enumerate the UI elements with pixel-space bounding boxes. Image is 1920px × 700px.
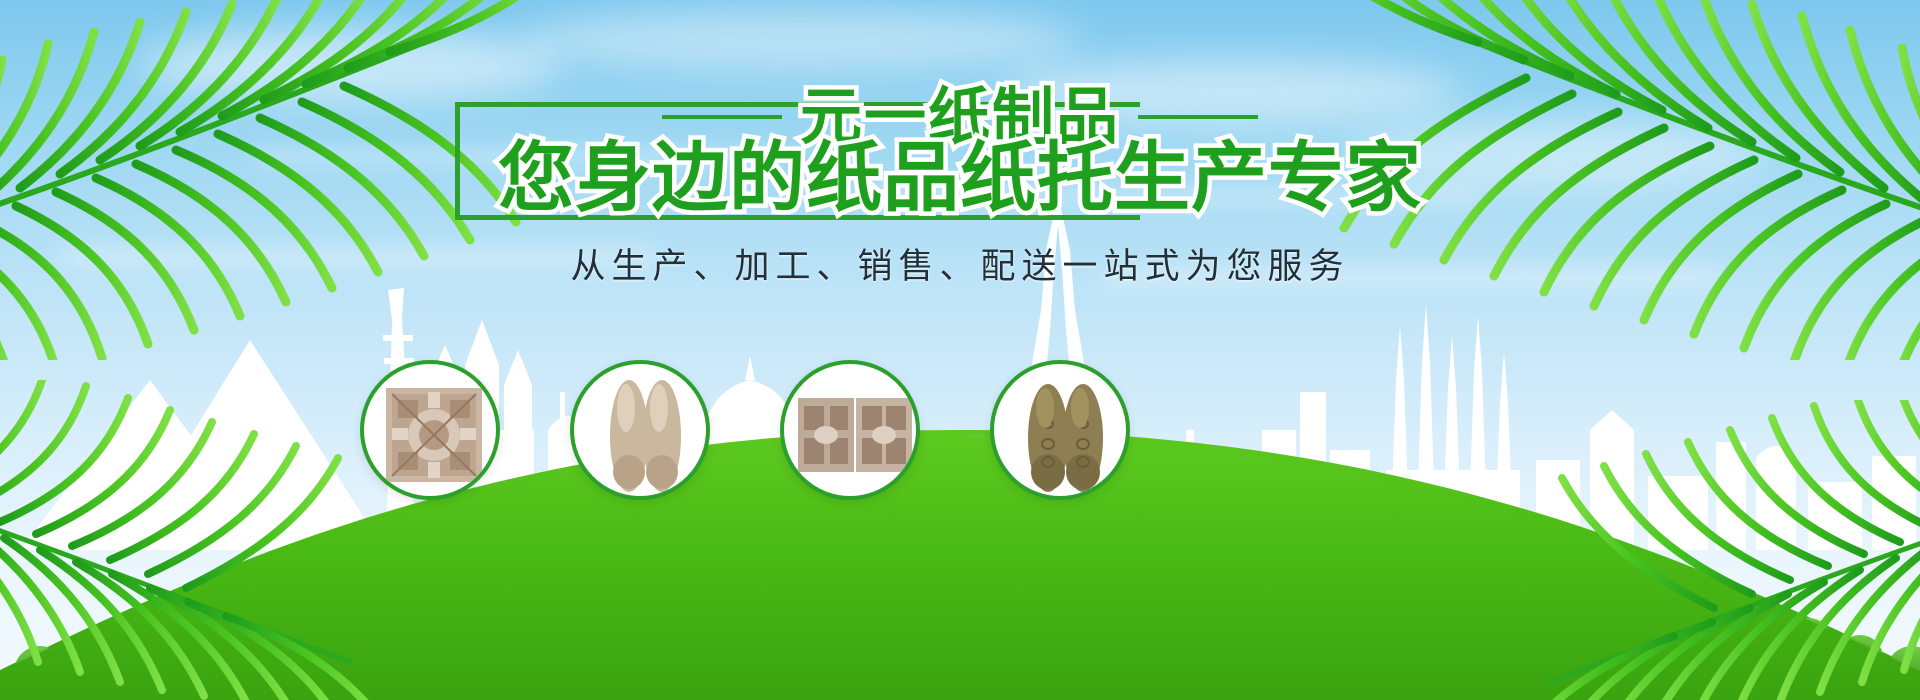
product-circle-paper-pulp-shoe-tree-dark[interactable]: [990, 360, 1130, 500]
paper-pulp-shoe-tree-dark-image: [994, 364, 1130, 500]
product-circle-paper-pulp-shoe-tree-light[interactable]: [570, 360, 710, 500]
product-circle-paper-pulp-tray-square[interactable]: [360, 360, 500, 500]
paper-pulp-tray-square-image: [364, 364, 500, 500]
paper-pulp-shoe-tree-light-image: [574, 364, 710, 500]
product-circles: [0, 0, 1920, 700]
promo-banner: 元一纸制品 您身边的纸品纸托生产专家 从生产、加工、销售、配送一站式为您服务: [0, 0, 1920, 700]
product-circle-paper-pulp-tray-pair[interactable]: [780, 360, 920, 500]
paper-pulp-tray-pair-image: [784, 364, 920, 500]
